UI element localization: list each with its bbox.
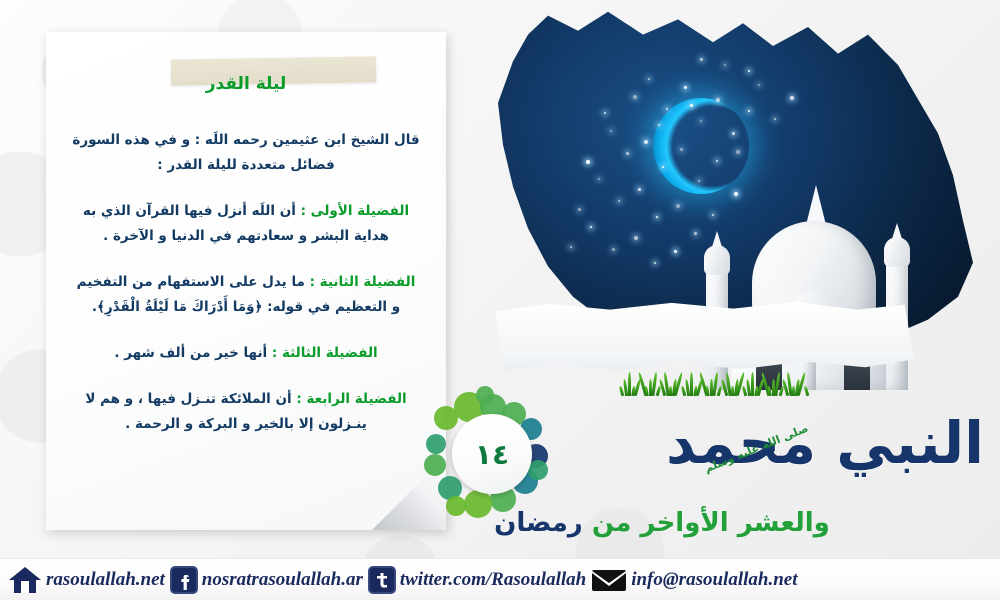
subtitle-green-part: والعشر الأواخر من bbox=[592, 508, 830, 538]
website-label: rasoulallah.net bbox=[46, 569, 165, 591]
footer-facebook-item[interactable]: nosratrasoulallah.ar bbox=[170, 566, 363, 594]
decorative-bubble bbox=[476, 386, 494, 404]
virtue-item: الفضيلة الثانية : ما يدل على الاستفهام م… bbox=[72, 270, 420, 320]
virtue-lead: الفضيلة الأولى : bbox=[301, 203, 410, 219]
minaret-tip-left bbox=[712, 231, 722, 247]
minaret-cap-right bbox=[884, 237, 910, 267]
page-title: ليلة القدر bbox=[72, 74, 420, 94]
virtue-item: الفضيلة الرابعة : أن الملائكة تنـزل فيها… bbox=[72, 387, 420, 437]
footer-contact-bar: rasoulallah.net nosratrasoulallah.ar twi… bbox=[0, 558, 1000, 600]
virtue-text: أنها خير من ألف شهر . bbox=[114, 345, 272, 361]
decorative-bubble bbox=[426, 434, 446, 454]
minaret-tip-right bbox=[892, 223, 902, 239]
grass-cluster bbox=[620, 362, 810, 396]
mosque-night-artwork bbox=[448, 0, 1000, 430]
decorative-bubble bbox=[424, 454, 446, 476]
intro-paragraph: قال الشيخ ابن عثيمين رحمه اللَه : و في ه… bbox=[72, 128, 420, 178]
minaret-cap-left bbox=[704, 245, 730, 275]
virtue-lead: الفضيلة الثالثة : bbox=[272, 345, 378, 361]
virtue-item: الفضيلة الأولى : أن اللَه أنزل فيها القر… bbox=[72, 199, 420, 249]
email-icon bbox=[591, 567, 627, 593]
virtue-lead: الفضيلة الرابعة : bbox=[296, 391, 406, 407]
badge-number: ١٤ bbox=[475, 438, 509, 471]
subtitle-navy-part: رمضان bbox=[494, 508, 592, 538]
decorative-bubble bbox=[528, 460, 548, 480]
virtue-item: الفضيلة الثالثة : أنها خير من ألف شهر . bbox=[72, 341, 420, 366]
footer-website-item[interactable]: rasoulallah.net bbox=[8, 565, 165, 595]
poster-canvas: ليلة القدر قال الشيخ ابن عثيمين رحمه الل… bbox=[0, 0, 1000, 600]
twitter-icon bbox=[368, 566, 396, 594]
email-label: info@rasoulallah.net bbox=[631, 569, 797, 591]
facebook-label: nosratrasoulallah.ar bbox=[202, 569, 363, 591]
campaign-subtitle: والعشر الأواخر من رمضان bbox=[452, 508, 872, 550]
virtue-lead: الفضيلة الثانية : bbox=[310, 274, 416, 290]
home-icon bbox=[8, 565, 42, 595]
facebook-icon bbox=[170, 566, 198, 594]
footer-twitter-item[interactable]: twitter.com/Rasoulallah bbox=[368, 566, 586, 594]
footer-email-item[interactable]: info@rasoulallah.net bbox=[591, 567, 797, 593]
badge-circle: ١٤ bbox=[452, 414, 532, 494]
twitter-label: twitter.com/Rasoulallah bbox=[400, 569, 586, 591]
content-paper-card: ليلة القدر قال الشيخ ابن عثيمين رحمه الل… bbox=[46, 32, 446, 530]
